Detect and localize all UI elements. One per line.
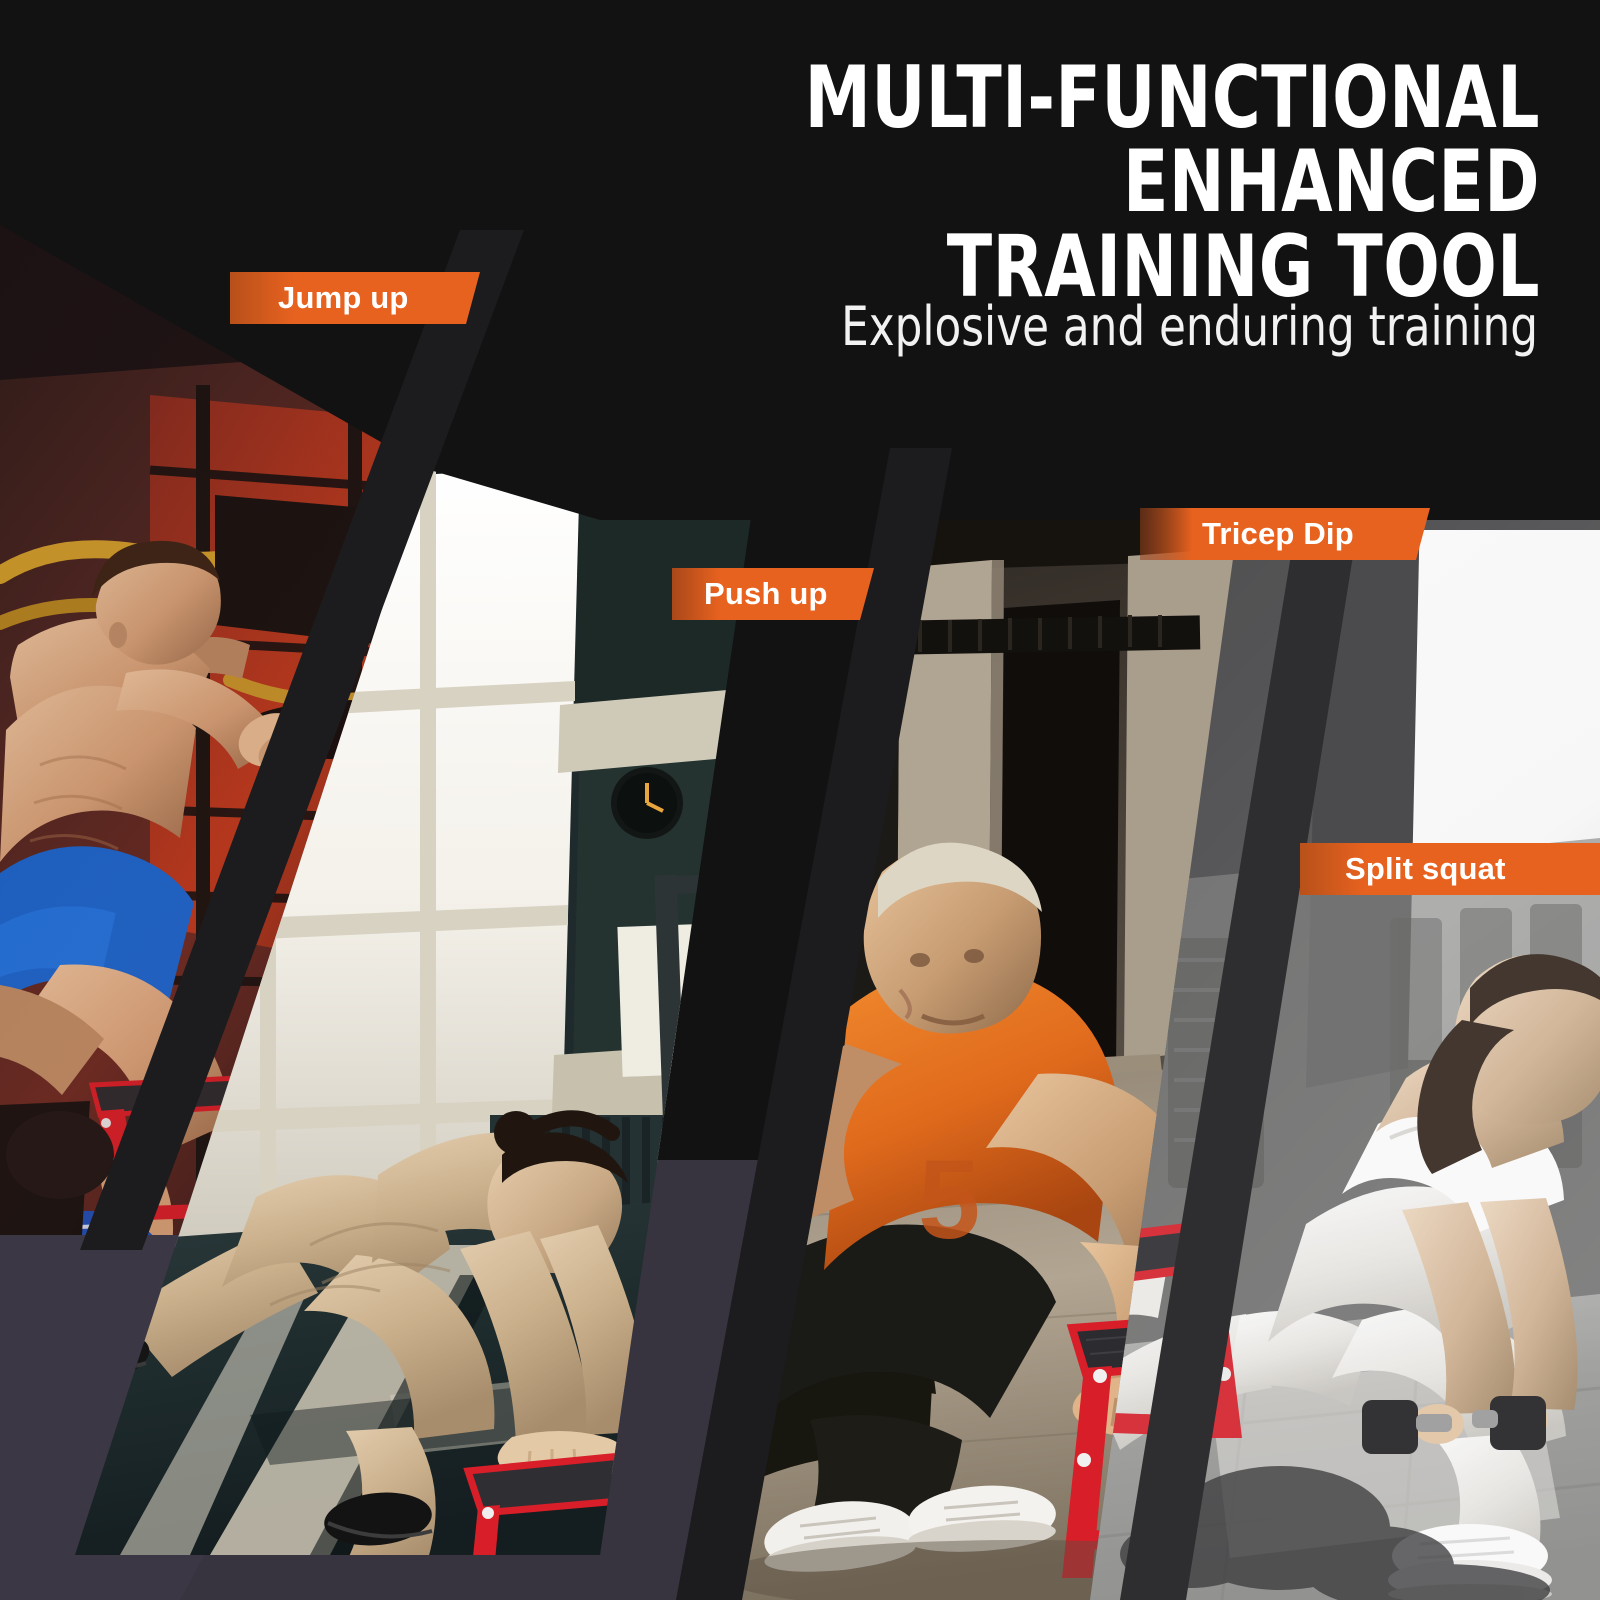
badge-jump-up: Jump up [230, 272, 480, 324]
badge-label-split-squat: Split squat [1345, 851, 1506, 887]
badge-split-squat: Split squat [1300, 843, 1600, 895]
badge-tricep-dip: Tricep Dip [1140, 508, 1430, 560]
badge-push-up: Push up [672, 568, 874, 620]
svg-text:5: 5 [918, 1137, 980, 1262]
panel-split-squat [1090, 508, 1600, 1600]
badge-label-push-up: Push up [704, 576, 828, 612]
badge-label-tricep-dip: Tricep Dip [1202, 516, 1354, 552]
product-infographic: Jump up [0, 0, 1600, 1600]
badge-label-jump-up: Jump up [278, 280, 409, 316]
